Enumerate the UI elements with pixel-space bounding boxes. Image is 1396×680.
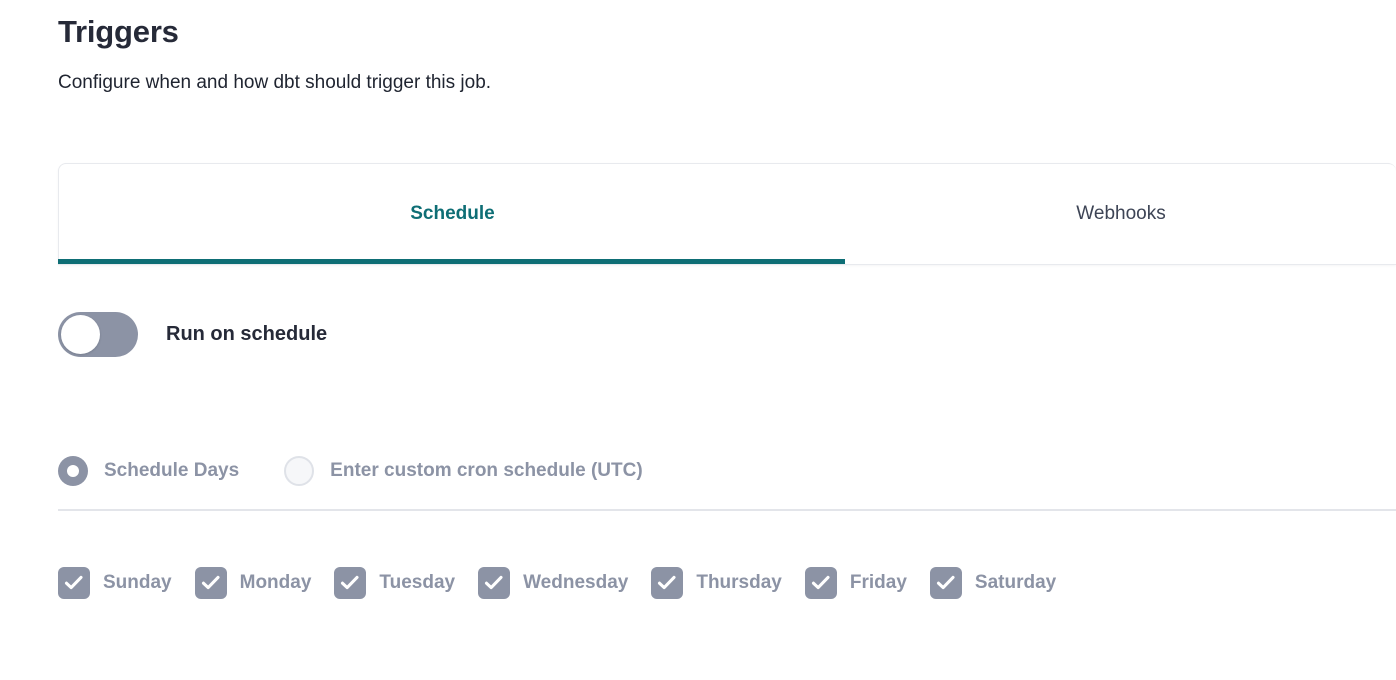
run-on-schedule-toggle[interactable]: [58, 312, 138, 357]
check-icon: [805, 567, 837, 599]
day-checkbox-sunday[interactable]: Sunday: [58, 567, 172, 599]
page-title: Triggers: [58, 10, 1378, 54]
radio-custom-cron-label: Enter custom cron schedule (UTC): [330, 460, 643, 482]
page-subtitle: Configure when and how dbt should trigge…: [58, 68, 1378, 98]
radio-schedule-days-label: Schedule Days: [104, 460, 239, 482]
day-checkbox-tuesday[interactable]: Tuesday: [334, 567, 455, 599]
radio-schedule-days[interactable]: Schedule Days: [58, 456, 239, 486]
tab-webhooks-label: Webhooks: [1076, 203, 1165, 225]
day-checkbox-wednesday[interactable]: Wednesday: [478, 567, 628, 599]
radio-unselected-icon: [284, 456, 314, 486]
tabs-container: Schedule Webhooks: [58, 163, 1396, 265]
day-label-saturday: Saturday: [975, 572, 1056, 594]
day-label-wednesday: Wednesday: [523, 572, 628, 594]
radio-selected-icon: [58, 456, 88, 486]
day-checkbox-monday[interactable]: Monday: [195, 567, 312, 599]
section-divider: [58, 509, 1396, 511]
check-icon: [930, 567, 962, 599]
check-icon: [478, 567, 510, 599]
tab-list: Schedule Webhooks: [59, 164, 1396, 264]
check-icon: [195, 567, 227, 599]
schedule-mode-radio-group: Schedule Days Enter custom cron schedule…: [58, 456, 643, 486]
tab-schedule[interactable]: Schedule: [59, 164, 846, 264]
tab-schedule-label: Schedule: [410, 203, 494, 225]
run-on-schedule-label: Run on schedule: [166, 312, 327, 357]
day-label-monday: Monday: [240, 572, 312, 594]
day-label-tuesday: Tuesday: [379, 572, 455, 594]
day-checkbox-thursday[interactable]: Thursday: [651, 567, 782, 599]
day-label-friday: Friday: [850, 572, 907, 594]
schedule-days-group: Sunday Monday Tuesday Wednesday Thursday: [58, 567, 1056, 599]
active-tab-indicator: [58, 259, 845, 264]
toggle-knob: [61, 315, 100, 354]
day-checkbox-saturday[interactable]: Saturday: [930, 567, 1056, 599]
day-label-sunday: Sunday: [103, 572, 172, 594]
day-label-thursday: Thursday: [696, 572, 782, 594]
radio-custom-cron[interactable]: Enter custom cron schedule (UTC): [284, 456, 643, 486]
day-checkbox-friday[interactable]: Friday: [805, 567, 907, 599]
triggers-page: Triggers Configure when and how dbt shou…: [0, 0, 1396, 680]
run-on-schedule-row: Run on schedule: [58, 312, 327, 357]
check-icon: [334, 567, 366, 599]
page-header: Triggers Configure when and how dbt shou…: [58, 10, 1378, 98]
tab-webhooks[interactable]: Webhooks: [846, 164, 1396, 264]
check-icon: [58, 567, 90, 599]
check-icon: [651, 567, 683, 599]
